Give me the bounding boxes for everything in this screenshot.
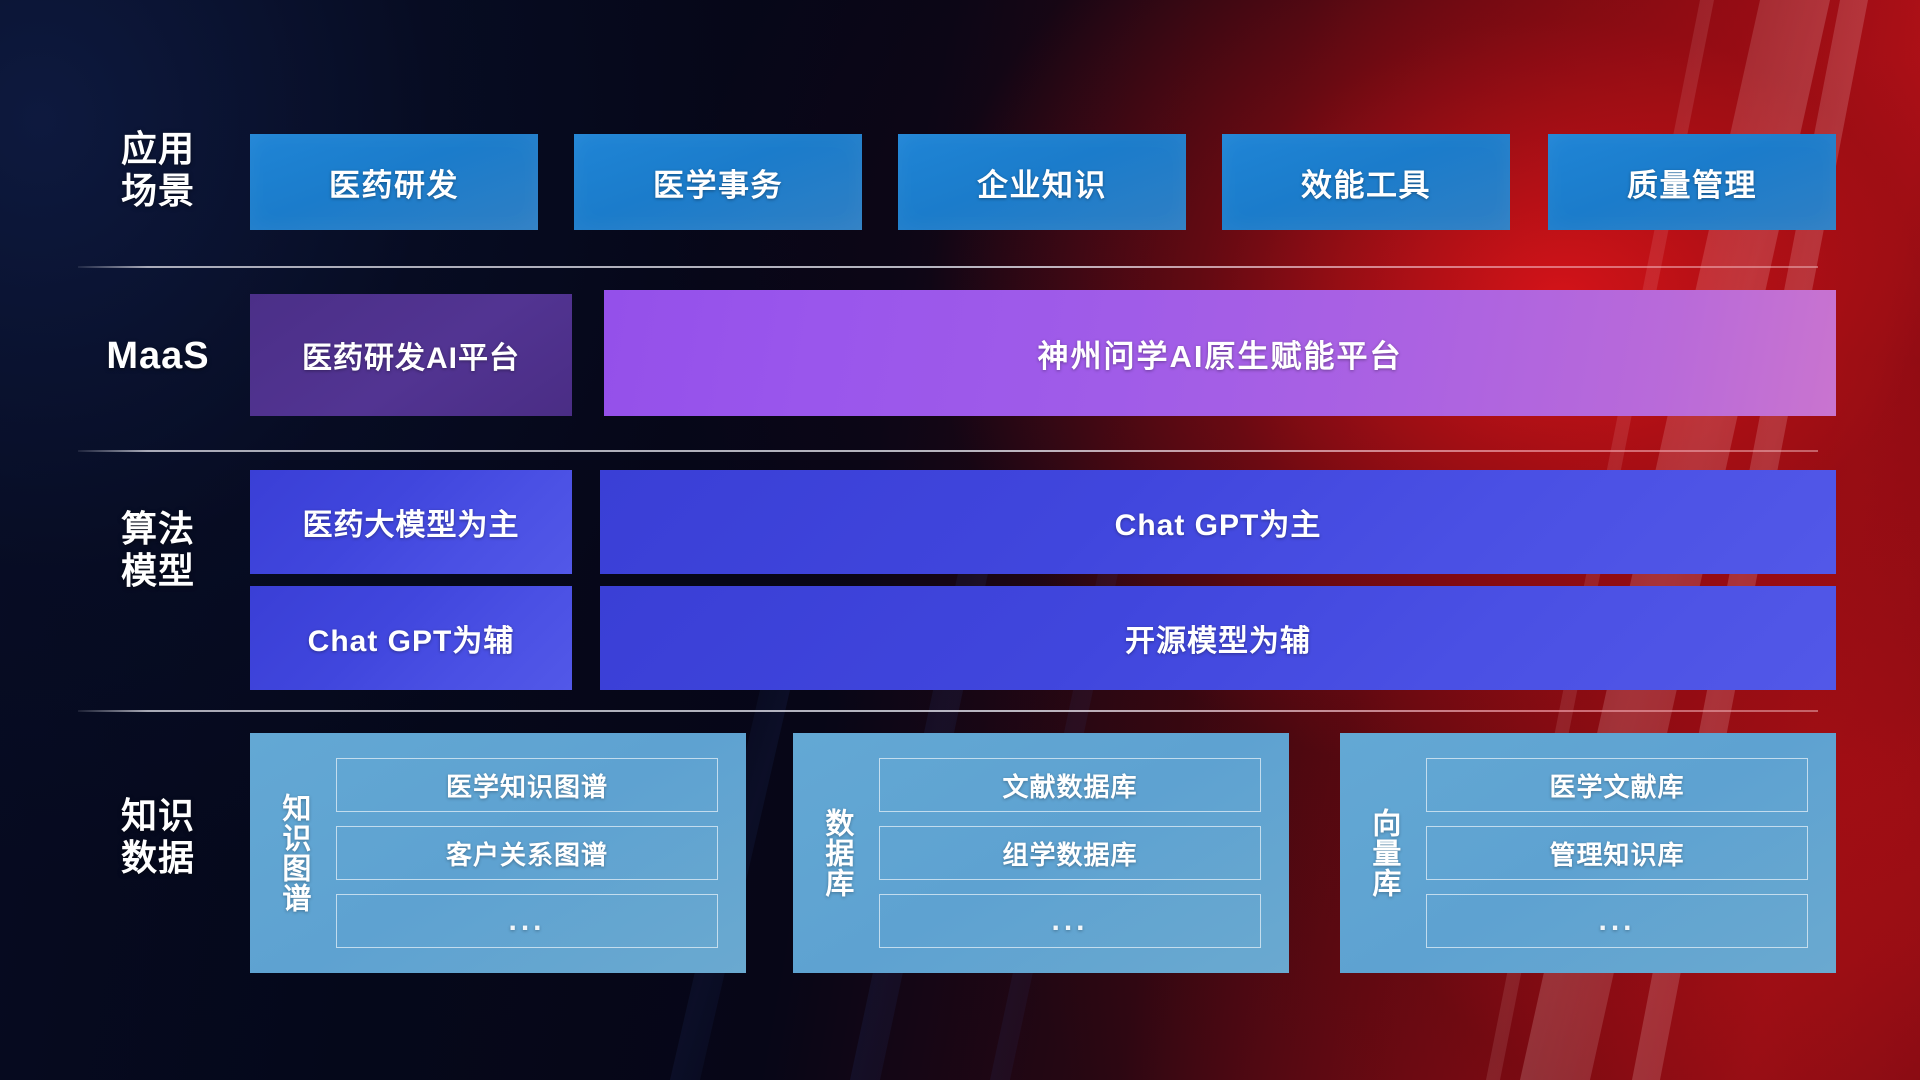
knowledge-item-knowledge-graph-more-label: ... [508, 904, 545, 938]
knowledge-item-customer-relation-graph[interactable]: 客户关系图谱 [336, 826, 718, 880]
knowledge-item-vector-store-more-label: ... [1598, 904, 1635, 938]
algo-box-open-source-secondary-label: 开源模型为辅 [1125, 616, 1311, 660]
knowledge-item-medical-literature-store-label: 医学文献库 [1549, 767, 1684, 804]
row-label-application-line2: 场景 [78, 170, 238, 212]
row-label-knowledge-line1: 知识 [78, 795, 238, 837]
knowledge-item-literature-database[interactable]: 文献数据库 [879, 758, 1261, 812]
knowledge-item-database-more-label: ... [1051, 904, 1088, 938]
row-label-maas-text: MaaS [78, 334, 238, 379]
algo-box-chatgpt-primary-label: Chat GPT为主 [1115, 500, 1322, 544]
algo-box-drug-large-model-primary[interactable]: 医药大模型为主 [250, 470, 572, 574]
architecture-diagram: 应用 场景 医药研发 医学事务 企业知识 效能工具 质量管理 MaaS 医药研发… [0, 0, 1920, 1080]
app-box-medical-affairs-label: 医学事务 [653, 160, 783, 205]
maas-box-drug-rd-ai-platform[interactable]: 医药研发AI平台 [250, 294, 572, 416]
knowledge-item-management-knowledge-store-label: 管理知识库 [1549, 835, 1684, 872]
maas-box-drug-rd-ai-platform-label: 医药研发AI平台 [302, 333, 520, 377]
maas-box-shenzhou-wenxue-platform[interactable]: 神州问学AI原生赋能平台 [604, 290, 1836, 416]
knowledge-item-medical-knowledge-graph-label: 医学知识图谱 [446, 767, 608, 804]
row-label-application-line1: 应用 [78, 128, 238, 170]
app-box-quality-management[interactable]: 质量管理 [1548, 134, 1836, 230]
row-label-application: 应用 场景 [78, 128, 238, 213]
algo-box-open-source-secondary[interactable]: 开源模型为辅 [600, 586, 1836, 690]
app-box-quality-management-label: 质量管理 [1627, 160, 1757, 205]
row-label-algorithm-line2: 模型 [78, 550, 238, 592]
knowledge-item-vector-store-more[interactable]: ... [1426, 894, 1808, 948]
row-label-algorithm-line1: 算法 [78, 508, 238, 550]
row-label-knowledge-line2: 数据 [78, 837, 238, 879]
row-label-knowledge: 知识 数据 [78, 795, 238, 880]
knowledge-panel-vector-store-items: 医学文献库 管理知识库 ... [1426, 733, 1836, 973]
row-label-maas: MaaS [78, 334, 238, 379]
app-box-drug-rd-label: 医药研发 [329, 160, 459, 205]
knowledge-item-medical-literature-store[interactable]: 医学文献库 [1426, 758, 1808, 812]
algo-box-drug-large-model-primary-label: 医药大模型为主 [303, 500, 520, 544]
algo-box-chatgpt-secondary-label: Chat GPT为辅 [308, 616, 515, 660]
knowledge-item-medical-knowledge-graph[interactable]: 医学知识图谱 [336, 758, 718, 812]
knowledge-panel-database-side-label: 数据库 [793, 733, 879, 973]
knowledge-panel-database-items: 文献数据库 组学数据库 ... [879, 733, 1289, 973]
knowledge-item-database-more[interactable]: ... [879, 894, 1261, 948]
knowledge-item-customer-relation-graph-label: 客户关系图谱 [446, 835, 608, 872]
app-box-efficiency-tools-label: 效能工具 [1301, 160, 1431, 205]
knowledge-panel-vector-store-side-label: 向量库 [1340, 733, 1426, 973]
app-box-efficiency-tools[interactable]: 效能工具 [1222, 134, 1510, 230]
knowledge-item-omics-database-label: 组学数据库 [1002, 835, 1137, 872]
app-box-medical-affairs[interactable]: 医学事务 [574, 134, 862, 230]
knowledge-item-literature-database-label: 文献数据库 [1002, 767, 1137, 804]
app-box-drug-rd[interactable]: 医药研发 [250, 134, 538, 230]
algo-box-chatgpt-primary[interactable]: Chat GPT为主 [600, 470, 1836, 574]
knowledge-panel-knowledge-graph: 知识图谱 医学知识图谱 客户关系图谱 ... [250, 733, 746, 973]
divider-algorithm-knowledge [78, 710, 1818, 712]
knowledge-panel-vector-store: 向量库 医学文献库 管理知识库 ... [1340, 733, 1836, 973]
divider-maas-algorithm [78, 450, 1818, 452]
knowledge-panel-database: 数据库 文献数据库 组学数据库 ... [793, 733, 1289, 973]
knowledge-panel-knowledge-graph-items: 医学知识图谱 客户关系图谱 ... [336, 733, 746, 973]
algo-box-chatgpt-secondary[interactable]: Chat GPT为辅 [250, 586, 572, 690]
knowledge-item-omics-database[interactable]: 组学数据库 [879, 826, 1261, 880]
row-label-algorithm: 算法 模型 [78, 508, 238, 593]
maas-box-shenzhou-wenxue-platform-label: 神州问学AI原生赋能平台 [1038, 331, 1403, 376]
app-box-enterprise-knowledge-label: 企业知识 [977, 160, 1107, 205]
knowledge-item-knowledge-graph-more[interactable]: ... [336, 894, 718, 948]
knowledge-item-management-knowledge-store[interactable]: 管理知识库 [1426, 826, 1808, 880]
app-box-enterprise-knowledge[interactable]: 企业知识 [898, 134, 1186, 230]
divider-application-maas [78, 266, 1818, 268]
knowledge-panel-knowledge-graph-side-label: 知识图谱 [250, 733, 336, 973]
